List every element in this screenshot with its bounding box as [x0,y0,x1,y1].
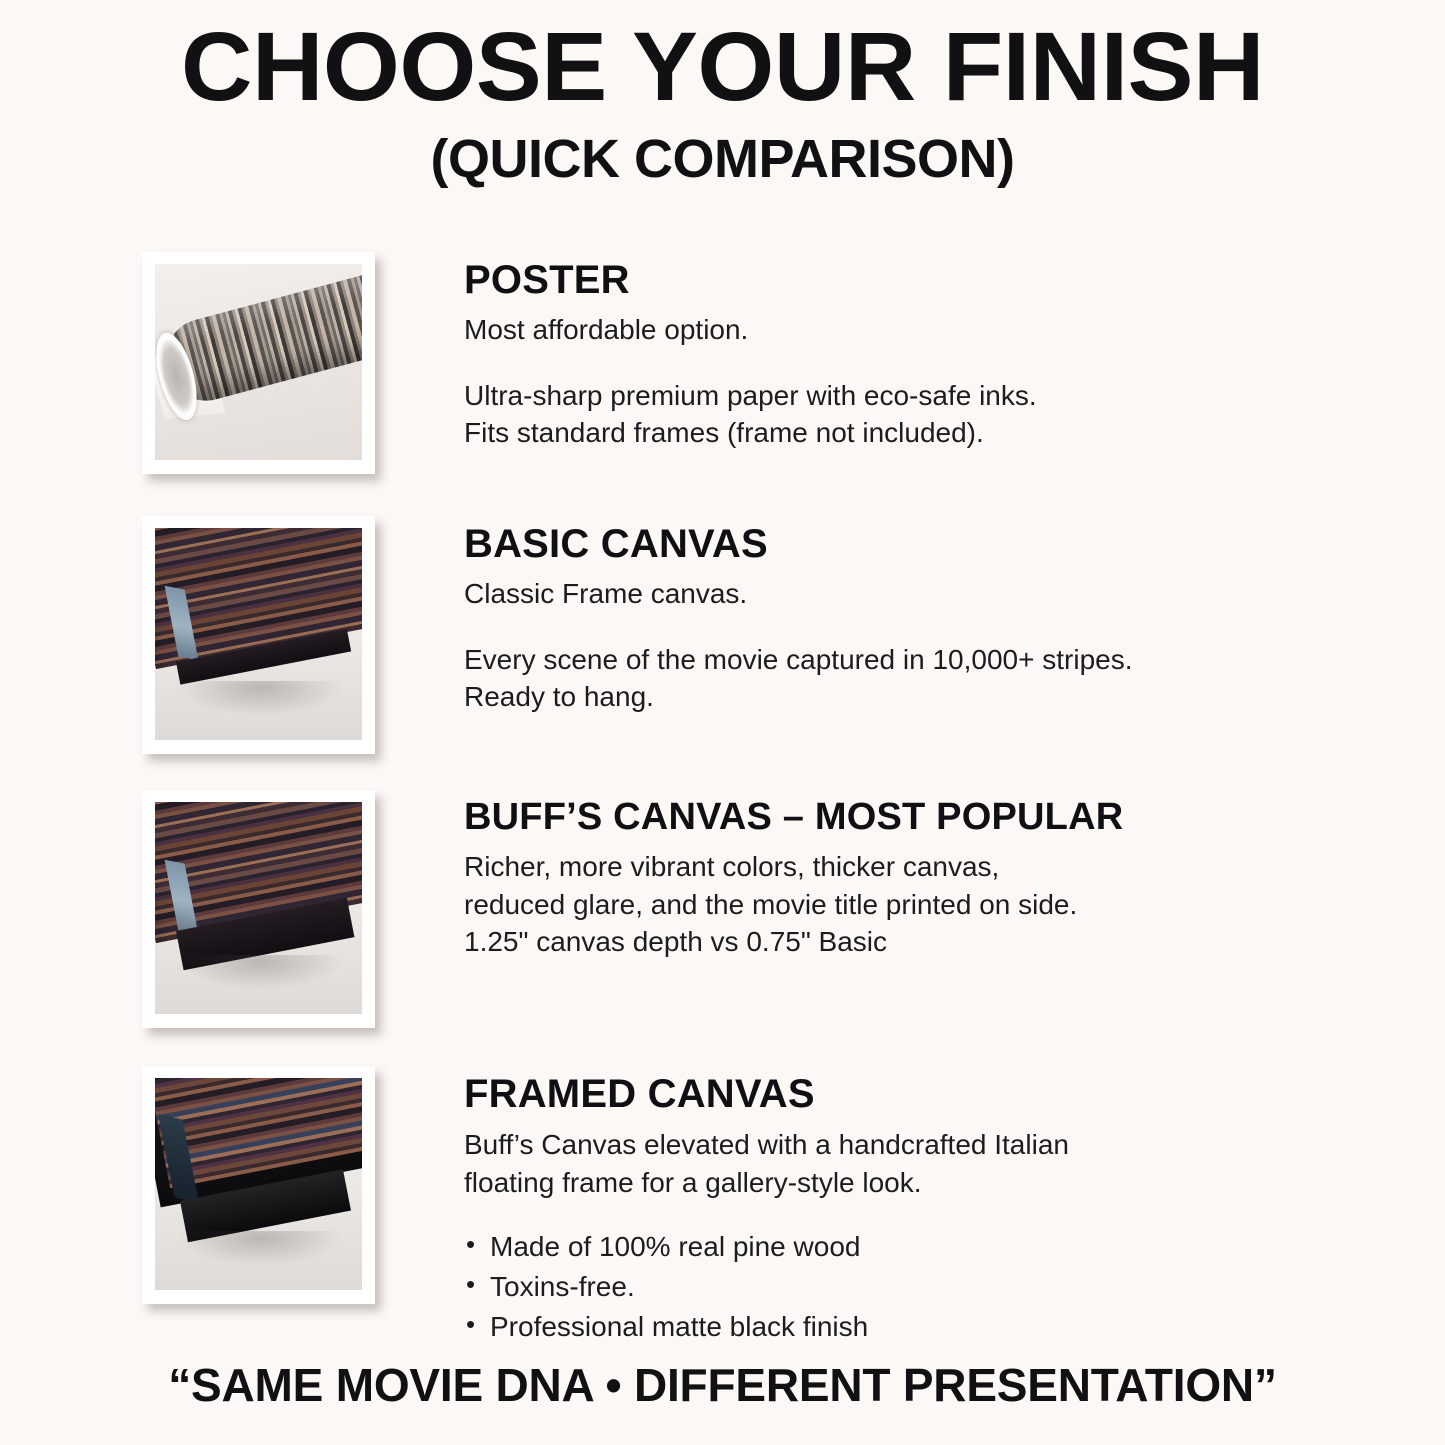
option-body-basic-canvas: Every scene of the movie captured in 10,… [464,641,1294,716]
option-body-framed-canvas: Buff’s Canvas elevated with a handcrafte… [464,1126,1294,1201]
buffs-canvas-photo-card [142,790,375,1028]
option-title-framed-canvas: FRAMED CANVAS [464,1074,1294,1114]
buffs-canvas-body-line-2: reduced glare, and the movie title print… [464,889,1077,920]
page-header: CHOOSE YOUR FINISH (QUICK COMPARISON) [0,0,1445,188]
option-row-framed-canvas: FRAMED CANVAS Buff’s Canvas elevated wit… [0,1066,1445,1346]
basic-canvas-body-line-1: Every scene of the movie captured in 10,… [464,644,1133,675]
poster-body-line-1: Ultra-sharp premium paper with eco-safe … [464,380,1037,411]
buffs-canvas-body-line-3: 1.25" canvas depth vs 0.75" Basic [464,926,887,957]
option-row-poster: POSTER Most affordable option. Ultra-sha… [0,252,1445,474]
rolled-poster-photo [155,264,362,460]
framed-canvas-drop-shadow [180,1231,341,1265]
option-lead-basic-canvas: Classic Frame canvas. [464,576,1294,613]
list-item: Professional matte black finish [464,1307,1294,1347]
option-lead-poster: Most affordable option. [464,312,1294,349]
buffs-canvas-drop-shadow [180,955,341,989]
option-body-poster: Ultra-sharp premium paper with eco-safe … [464,377,1294,452]
poster-text-block: POSTER Most affordable option. Ultra-sha… [464,252,1294,452]
framed-canvas-bullet-list: Made of 100% real pine wood Toxins-free.… [464,1227,1294,1346]
option-title-poster: POSTER [464,260,1294,300]
option-body-buffs-canvas: Richer, more vibrant colors, thicker can… [464,848,1294,961]
framed-canvas-body-line-1: Buff’s Canvas elevated with a handcrafte… [464,1129,1069,1160]
option-row-buffs-canvas: BUFF’S CANVAS – MOST POPULAR Richer, mor… [0,790,1445,1028]
buffs-canvas-body-line-1: Richer, more vibrant colors, thicker can… [464,851,999,882]
option-title-buffs-canvas: BUFF’S CANVAS – MOST POPULAR [464,798,1294,836]
buffs-canvas-corner-photo [155,802,362,1014]
basic-canvas-photo-card [142,516,375,754]
page-title: CHOOSE YOUR FINISH [0,18,1445,117]
framed-canvas-body-line-2: floating frame for a gallery-style look. [464,1167,922,1198]
page-subtitle: (QUICK COMPARISON) [0,131,1445,188]
framed-canvas-corner-photo [155,1078,362,1290]
poster-body-line-2: Fits standard frames (frame not included… [464,417,984,448]
poster-photo-card [142,252,375,474]
basic-canvas-corner-photo [155,528,362,740]
framed-canvas-photo-card [142,1066,375,1304]
basic-canvas-text-block: BASIC CANVAS Classic Frame canvas. Every… [464,516,1294,716]
option-row-basic-canvas: BASIC CANVAS Classic Frame canvas. Every… [0,516,1445,754]
list-item: Toxins-free. [464,1267,1294,1307]
framed-canvas-text-block: FRAMED CANVAS Buff’s Canvas elevated wit… [464,1066,1294,1346]
page-footer: “SAME MOVIE DNA • DIFFERENT PRESENTATION… [0,1358,1445,1412]
list-item: Made of 100% real pine wood [464,1227,1294,1267]
basic-canvas-drop-shadow [180,681,341,715]
buffs-canvas-text-block: BUFF’S CANVAS – MOST POPULAR Richer, mor… [464,790,1294,961]
footer-tagline: “SAME MOVIE DNA • DIFFERENT PRESENTATION… [0,1358,1445,1412]
basic-canvas-body-line-2: Ready to hang. [464,681,654,712]
option-title-basic-canvas: BASIC CANVAS [464,524,1294,564]
